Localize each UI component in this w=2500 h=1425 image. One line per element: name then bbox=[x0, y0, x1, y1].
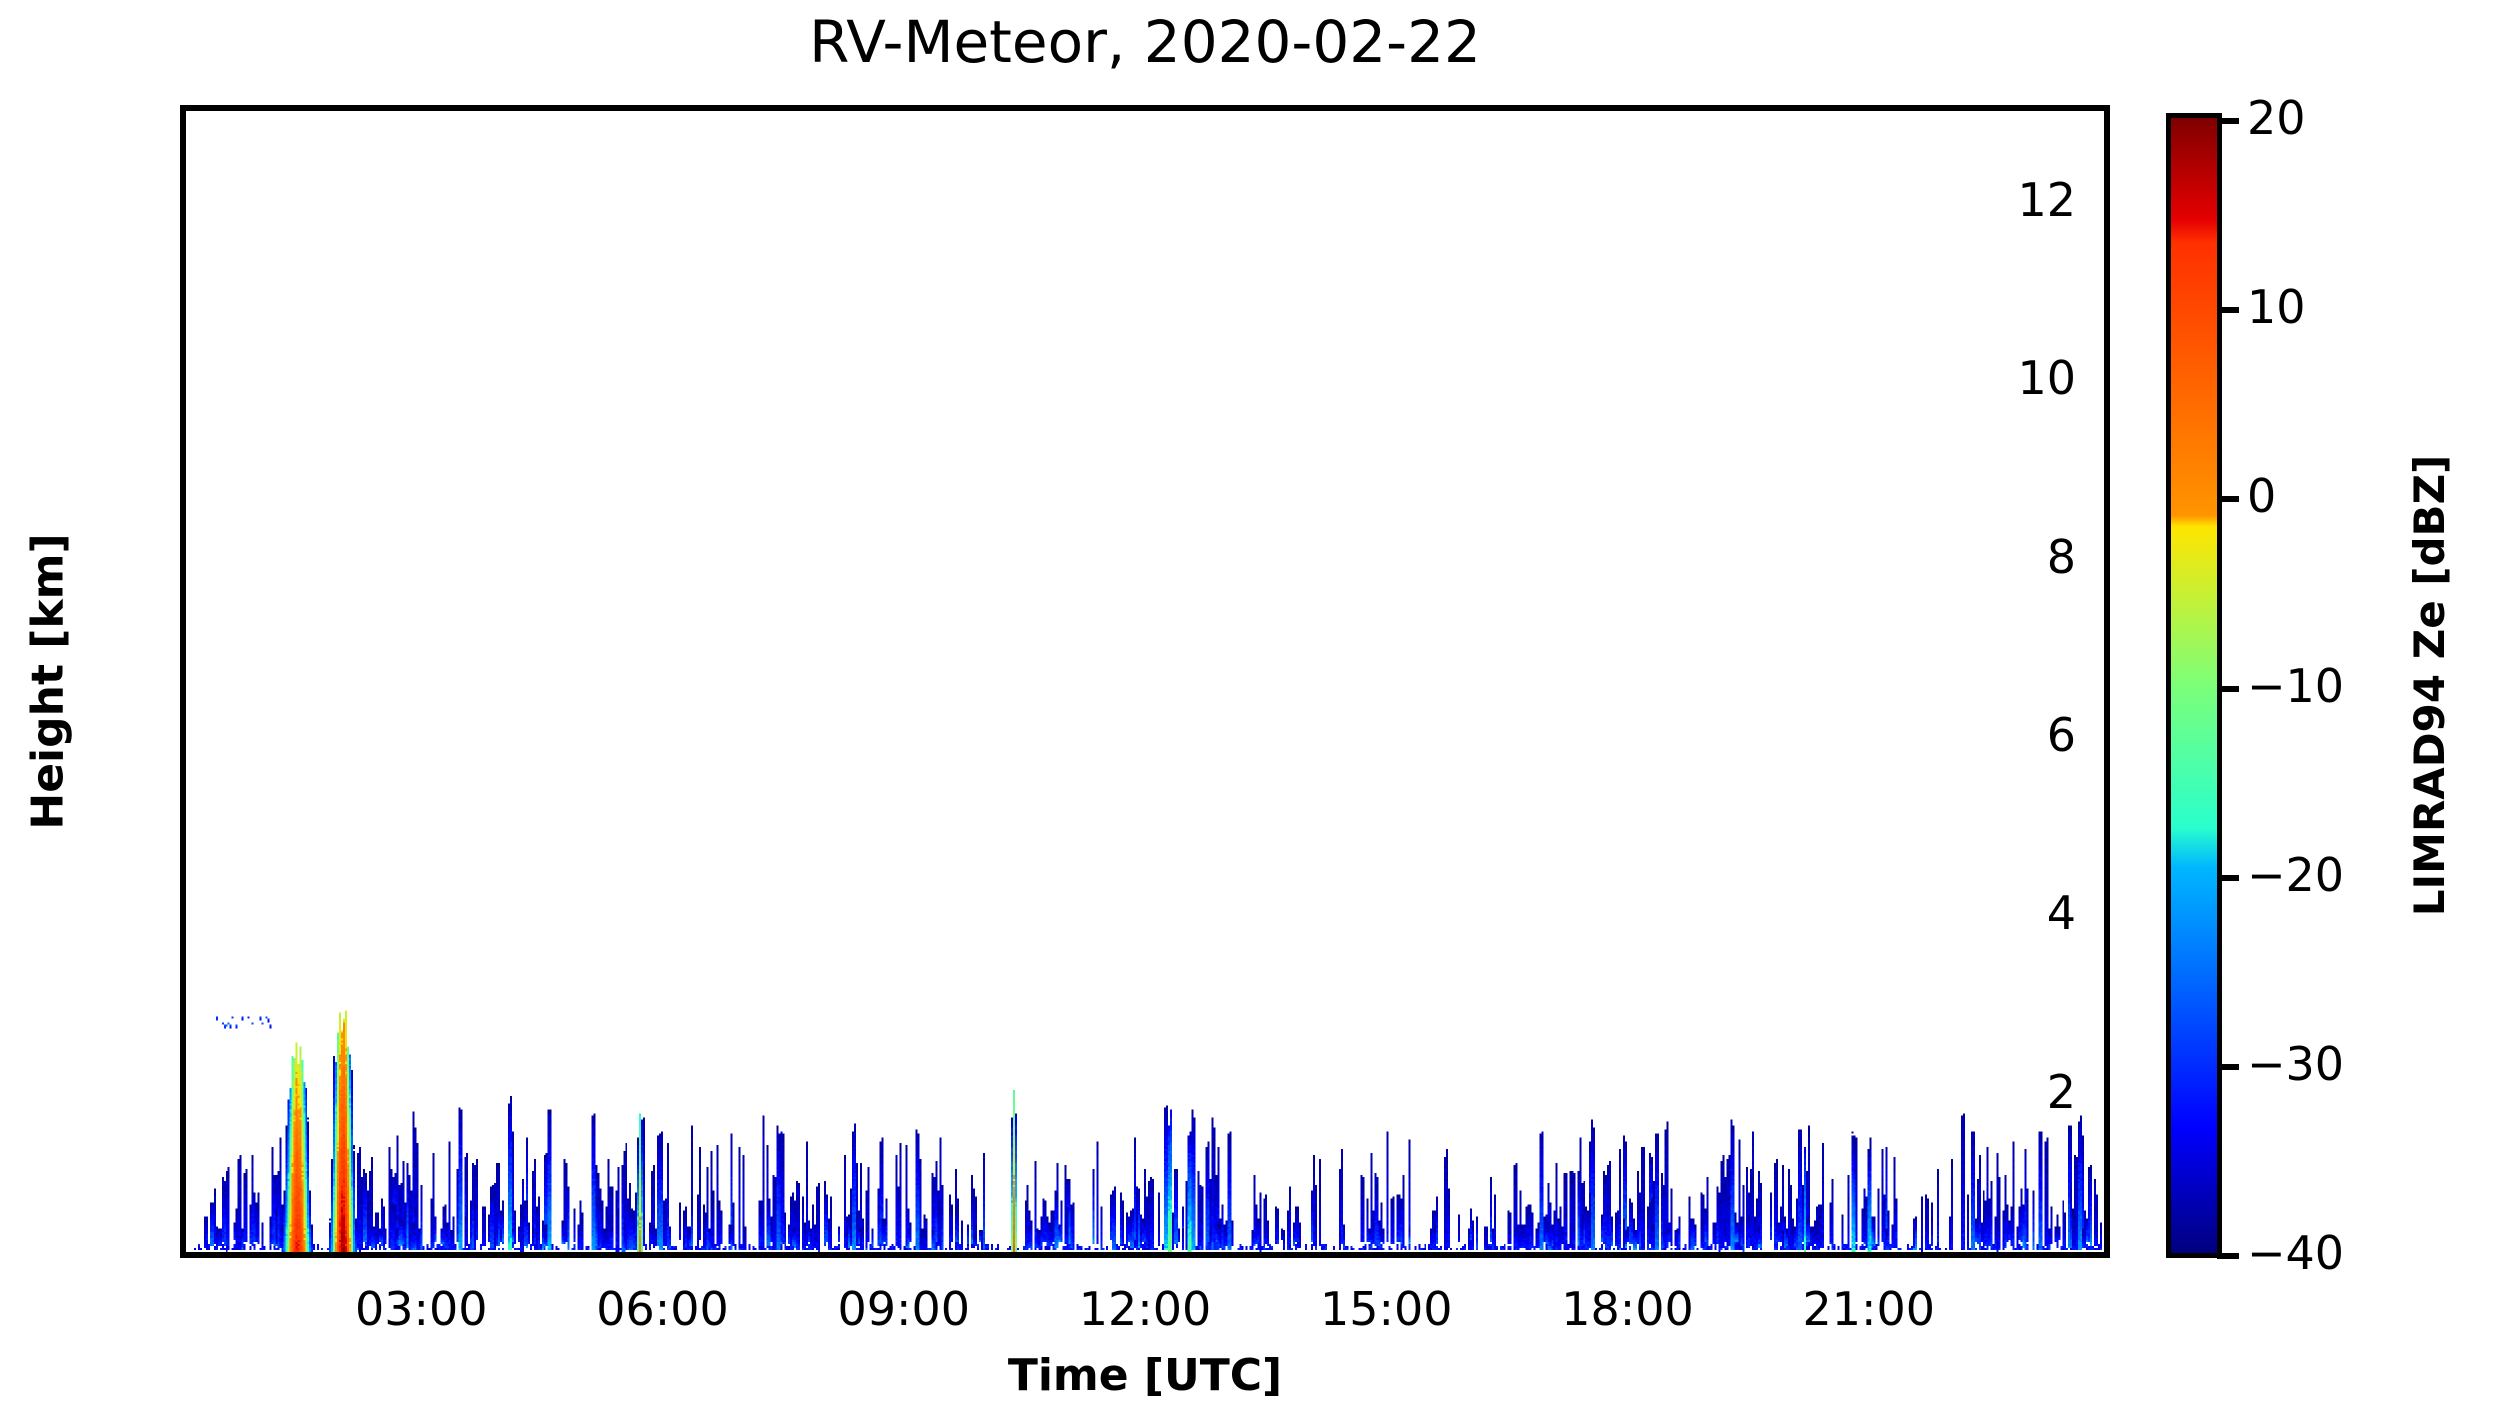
x-tick bbox=[1105, 1252, 1110, 1258]
x-tick-top bbox=[1744, 105, 1749, 111]
y-tick bbox=[180, 690, 186, 695]
y-tick bbox=[180, 1136, 186, 1141]
x-tick-label: 15:00 bbox=[1320, 1282, 1453, 1336]
y-tick-right bbox=[2104, 512, 2110, 517]
x-tick bbox=[1505, 1252, 1510, 1258]
x-tick-top bbox=[306, 105, 311, 111]
y-tick-label: 12 bbox=[2017, 173, 2076, 227]
x-tick bbox=[945, 1252, 950, 1258]
x-tick bbox=[785, 1252, 790, 1258]
x-tick-top bbox=[1265, 105, 1270, 111]
colorbar-tick bbox=[2217, 1253, 2239, 1259]
y-tick bbox=[180, 1002, 186, 1007]
y-tick-right bbox=[2104, 913, 2110, 919]
x-tick bbox=[586, 1252, 591, 1258]
y-tick-label: 6 bbox=[2047, 708, 2076, 762]
x-tick-top bbox=[1025, 105, 1030, 111]
colorbar-title-text: LIMRAD94 Ze [dBZ] bbox=[2406, 455, 2455, 916]
x-tick bbox=[1664, 1252, 1669, 1258]
x-tick bbox=[985, 1252, 990, 1258]
y-tick bbox=[180, 289, 186, 294]
x-tick bbox=[905, 1252, 911, 1258]
colorbar-tick-label: −20 bbox=[2247, 848, 2344, 902]
x-tick bbox=[626, 1252, 631, 1258]
x-tick bbox=[1185, 1252, 1190, 1258]
x-tick-top bbox=[546, 105, 551, 111]
y-tick bbox=[180, 1225, 186, 1230]
x-tick bbox=[666, 1252, 672, 1258]
x-tick-top bbox=[1585, 105, 1590, 111]
x-tick bbox=[1904, 1252, 1909, 1258]
y-tick bbox=[180, 245, 186, 250]
x-tick-top bbox=[1065, 105, 1070, 111]
y-tick bbox=[180, 735, 186, 741]
x-tick bbox=[1625, 1252, 1631, 1258]
y-tick-right bbox=[2104, 958, 2110, 963]
colorbar-gradient bbox=[2171, 118, 2217, 1253]
x-tick bbox=[1545, 1252, 1550, 1258]
x-tick-top bbox=[1784, 105, 1789, 111]
y-tick-right bbox=[2104, 824, 2110, 829]
y-tick-right bbox=[2104, 601, 2110, 606]
x-tick-top bbox=[1505, 105, 1510, 111]
x-tick bbox=[1784, 1252, 1789, 1258]
y-tick-right bbox=[2104, 735, 2110, 741]
x-tick-top bbox=[1425, 105, 1430, 111]
y-tick-right bbox=[2104, 423, 2110, 428]
radar-timeheight-figure: RV-Meteor, 2020-02-22 Height [km] 246810… bbox=[0, 0, 2500, 1425]
x-tick bbox=[1824, 1252, 1829, 1258]
x-tick bbox=[186, 1252, 192, 1258]
x-tick-label: 09:00 bbox=[837, 1282, 970, 1336]
x-tick bbox=[2104, 1252, 2110, 1258]
x-tick bbox=[426, 1252, 432, 1258]
x-tick-top bbox=[1225, 105, 1230, 111]
x-tick-top bbox=[1385, 105, 1391, 111]
x-tick bbox=[1944, 1252, 1949, 1258]
x-tick bbox=[2024, 1252, 2029, 1258]
x-tick bbox=[1265, 1252, 1270, 1258]
y-tick-right bbox=[2104, 690, 2110, 695]
y-tick-right bbox=[2104, 1002, 2110, 1007]
x-tick-top bbox=[586, 105, 591, 111]
x-tick-top bbox=[1944, 105, 1949, 111]
x-tick bbox=[825, 1252, 830, 1258]
x-tick-top bbox=[1664, 105, 1669, 111]
x-tick-top bbox=[1345, 105, 1350, 111]
x-tick bbox=[745, 1252, 750, 1258]
y-tick-right bbox=[2104, 557, 2110, 563]
y-tick bbox=[180, 111, 186, 116]
y-tick bbox=[180, 423, 186, 428]
y-tick-label: 4 bbox=[2047, 886, 2076, 940]
x-tick-top bbox=[1704, 105, 1709, 111]
x-tick-top bbox=[266, 105, 271, 111]
x-tick bbox=[506, 1252, 511, 1258]
x-tick-top bbox=[945, 105, 950, 111]
x-tick-top bbox=[905, 105, 911, 111]
y-tick bbox=[180, 1092, 186, 1098]
y-tick-right bbox=[2104, 289, 2110, 294]
y-axis-title: Height [km] bbox=[18, 105, 78, 1258]
y-tick bbox=[180, 646, 186, 651]
x-tick bbox=[386, 1252, 391, 1258]
reflectivity-heatmap-canvas bbox=[186, 111, 2104, 1252]
y-tick-right bbox=[2104, 1136, 2110, 1141]
y-tick-right bbox=[2104, 1092, 2110, 1098]
y-tick bbox=[180, 1181, 186, 1186]
x-tick-top bbox=[346, 105, 351, 111]
y-tick-right bbox=[2104, 378, 2110, 384]
x-tick-top bbox=[426, 105, 432, 111]
x-tick-top bbox=[1185, 105, 1190, 111]
y-tick-right bbox=[2104, 334, 2110, 339]
x-tick-top bbox=[1625, 105, 1631, 111]
heatmap-plot-area bbox=[186, 111, 2104, 1252]
x-tick-label: 12:00 bbox=[1079, 1282, 1212, 1336]
plot-axes: 24681012 bbox=[180, 105, 2110, 1258]
y-tick bbox=[180, 200, 186, 206]
x-tick bbox=[1744, 1252, 1749, 1258]
y-tick-right bbox=[2104, 1181, 2110, 1186]
x-tick-top bbox=[1904, 105, 1909, 111]
y-tick-right bbox=[2104, 1225, 2110, 1230]
y-tick bbox=[180, 913, 186, 919]
y-tick-right bbox=[2104, 869, 2110, 874]
y-tick-right bbox=[2104, 468, 2110, 473]
y-tick bbox=[180, 468, 186, 473]
colorbar-tick bbox=[2217, 118, 2239, 124]
x-tick-top bbox=[2024, 105, 2029, 111]
x-tick-label: 18:00 bbox=[1561, 1282, 1694, 1336]
x-tick-top bbox=[985, 105, 990, 111]
x-tick bbox=[1984, 1252, 1989, 1258]
y-tick-right bbox=[2104, 111, 2110, 116]
x-tick bbox=[2064, 1252, 2069, 1258]
y-tick bbox=[180, 780, 186, 785]
y-tick-label: 8 bbox=[2047, 530, 2076, 584]
x-tick-top bbox=[785, 105, 790, 111]
x-tick bbox=[865, 1252, 870, 1258]
y-tick bbox=[180, 1047, 186, 1052]
x-tick-top bbox=[1545, 105, 1550, 111]
x-tick-top bbox=[825, 105, 830, 111]
x-tick-top bbox=[1824, 105, 1829, 111]
y-axis-title-text: Height [km] bbox=[23, 533, 74, 829]
y-tick bbox=[180, 334, 186, 339]
colorbar-tick bbox=[2217, 1064, 2239, 1070]
x-tick bbox=[1704, 1252, 1709, 1258]
x-tick bbox=[705, 1252, 710, 1258]
y-tick-right bbox=[2104, 156, 2110, 161]
y-tick-right bbox=[2104, 200, 2110, 206]
x-tick bbox=[346, 1252, 351, 1258]
y-tick-right bbox=[2104, 780, 2110, 785]
x-tick-top bbox=[666, 105, 672, 111]
x-tick bbox=[1345, 1252, 1350, 1258]
x-tick bbox=[1225, 1252, 1230, 1258]
x-tick-top bbox=[745, 105, 750, 111]
x-tick-top bbox=[186, 105, 192, 111]
x-tick bbox=[466, 1252, 471, 1258]
x-tick bbox=[1305, 1252, 1310, 1258]
x-tick bbox=[1585, 1252, 1590, 1258]
colorbar: 20100−10−20−30−40 bbox=[2166, 113, 2222, 1258]
y-tick-right bbox=[2104, 646, 2110, 651]
x-tick bbox=[1465, 1252, 1470, 1258]
x-tick-top bbox=[1305, 105, 1310, 111]
colorbar-tick-label: 0 bbox=[2247, 469, 2276, 523]
x-tick-label: 21:00 bbox=[1802, 1282, 1935, 1336]
y-tick-label: 2 bbox=[2047, 1065, 2076, 1119]
x-tick-top bbox=[386, 105, 391, 111]
x-axis-title: Time [UTC] bbox=[180, 1350, 2110, 1401]
x-tick-top bbox=[1105, 105, 1110, 111]
colorbar-tick bbox=[2217, 496, 2239, 502]
page-title: RV-Meteor, 2020-02-22 bbox=[180, 8, 2110, 76]
x-tick-top bbox=[626, 105, 631, 111]
x-tick bbox=[266, 1252, 271, 1258]
x-tick bbox=[226, 1252, 231, 1258]
x-tick-top bbox=[506, 105, 511, 111]
y-tick-right bbox=[2104, 1047, 2110, 1052]
y-tick bbox=[180, 601, 186, 606]
x-tick-top bbox=[1465, 105, 1470, 111]
colorbar-tick-label: 10 bbox=[2247, 280, 2306, 334]
x-tick bbox=[546, 1252, 551, 1258]
x-tick-label: 03:00 bbox=[355, 1282, 488, 1336]
x-tick-top bbox=[226, 105, 231, 111]
colorbar-tick-label: −30 bbox=[2247, 1037, 2344, 1091]
y-tick bbox=[180, 156, 186, 161]
x-tick-top bbox=[865, 105, 870, 111]
x-tick-top bbox=[2104, 105, 2110, 111]
colorbar-tick bbox=[2217, 307, 2239, 313]
y-tick bbox=[180, 869, 186, 874]
colorbar-tick-label: −40 bbox=[2247, 1226, 2344, 1280]
colorbar-tick bbox=[2217, 875, 2239, 881]
colorbar-tick bbox=[2217, 686, 2239, 692]
y-tick-right bbox=[2104, 245, 2110, 250]
y-tick bbox=[180, 378, 186, 384]
x-tick bbox=[306, 1252, 311, 1258]
x-tick-top bbox=[1145, 105, 1151, 111]
x-tick bbox=[1025, 1252, 1030, 1258]
x-tick-top bbox=[1864, 105, 1870, 111]
x-tick-top bbox=[2064, 105, 2069, 111]
x-tick bbox=[1425, 1252, 1430, 1258]
x-tick-top bbox=[705, 105, 710, 111]
y-tick-label: 10 bbox=[2017, 351, 2076, 405]
colorbar-title: LIMRAD94 Ze [dBZ] bbox=[2400, 113, 2460, 1258]
x-tick-top bbox=[1984, 105, 1989, 111]
y-tick bbox=[180, 824, 186, 829]
x-tick bbox=[1864, 1252, 1870, 1258]
colorbar-tick-label: 20 bbox=[2247, 91, 2306, 145]
x-tick bbox=[1385, 1252, 1391, 1258]
x-tick-top bbox=[466, 105, 471, 111]
y-tick bbox=[180, 512, 186, 517]
y-tick bbox=[180, 557, 186, 563]
colorbar-tick-label: −10 bbox=[2247, 659, 2344, 713]
y-tick bbox=[180, 958, 186, 963]
x-tick bbox=[1145, 1252, 1151, 1258]
x-tick-label: 06:00 bbox=[596, 1282, 729, 1336]
x-tick bbox=[1065, 1252, 1070, 1258]
